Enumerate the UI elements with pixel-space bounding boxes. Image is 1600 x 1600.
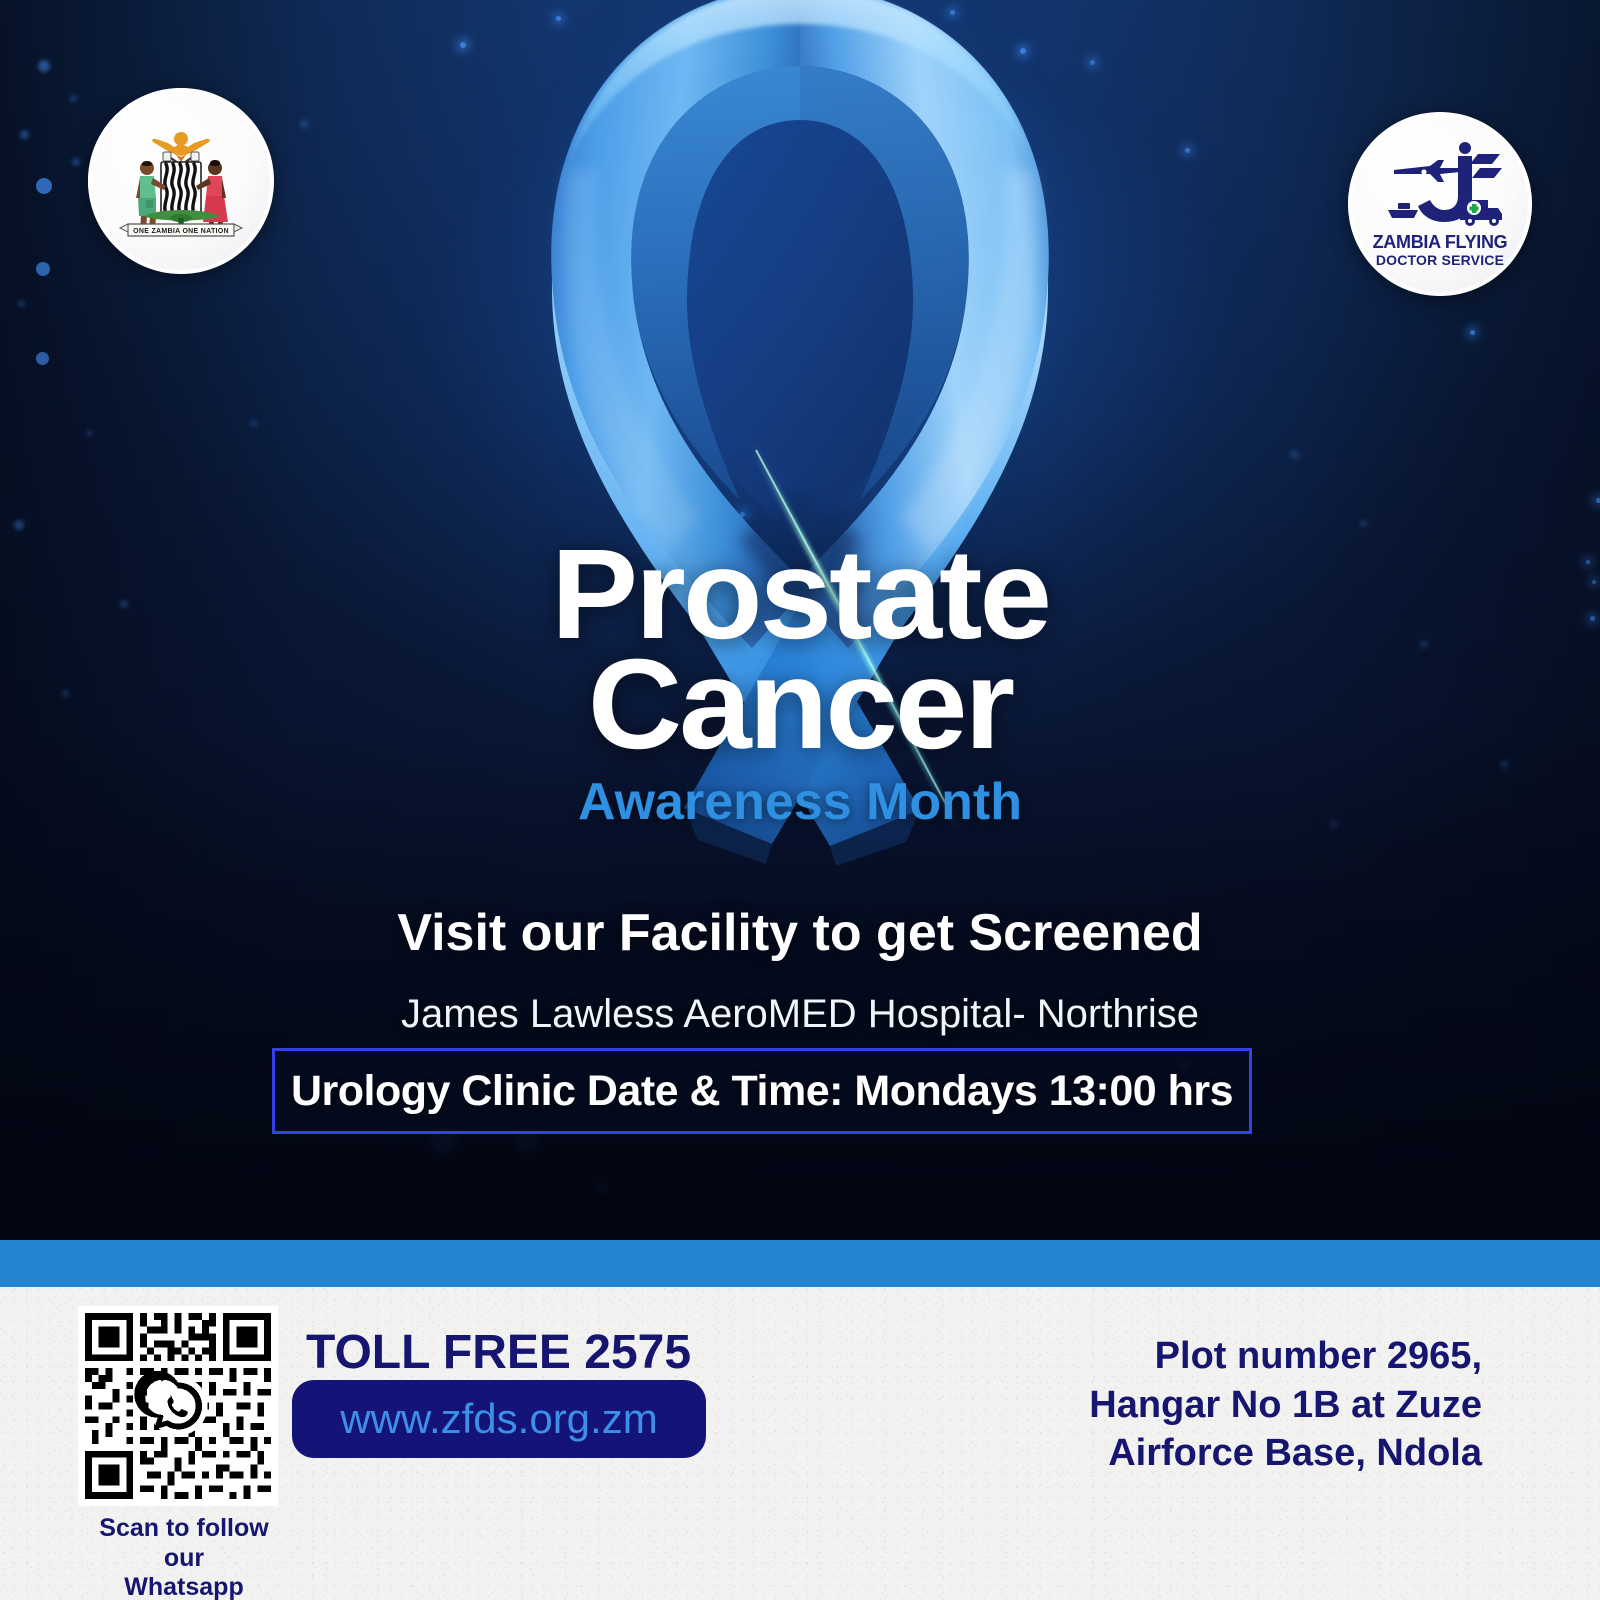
website-button[interactable]: www.zfds.org.zm	[292, 1380, 706, 1458]
address-line-3: Airforce Base, Ndola	[1002, 1429, 1482, 1478]
facility-name-text: James Lawless AeroMED Hospital- Northris…	[0, 992, 1600, 1037]
clinic-info-text: Urology Clinic Date & Time: Mondays 13:0…	[291, 1067, 1233, 1116]
qr-caption-line-2: Whatsapp Channel	[78, 1573, 290, 1600]
address-line-2: Hangar No 1B at Zuze	[1002, 1381, 1482, 1430]
qr-caption: Scan to follow our Whatsapp Channel	[78, 1514, 290, 1600]
address-block: Plot number 2965, Hangar No 1B at Zuze A…	[1002, 1332, 1482, 1478]
zambia-coat-of-arms-logo: ONE ZAMBIA ONE NATION	[88, 88, 274, 274]
toll-free-text: TOLL FREE 2575	[306, 1325, 691, 1380]
poster-root: Prostate Cancer Awareness Month Visit ou…	[0, 0, 1600, 1600]
title-line-2: Cancer	[0, 650, 1600, 760]
coat-of-arms-motto: ONE ZAMBIA ONE NATION	[133, 228, 229, 235]
zfds-logo-line-1: ZAMBIA FLYING	[1373, 232, 1508, 252]
page-title: Prostate Cancer	[0, 540, 1600, 760]
qr-code[interactable]	[78, 1306, 278, 1506]
divider-band	[0, 1240, 1600, 1287]
address-line-1: Plot number 2965,	[1002, 1332, 1482, 1381]
zfds-logo-line-2: DOCTOR SERVICE	[1376, 252, 1504, 268]
call-to-action-text: Visit our Facility to get Screened	[0, 903, 1600, 963]
qr-caption-line-1: Scan to follow our	[78, 1514, 290, 1573]
website-label: www.zfds.org.zm	[340, 1395, 657, 1443]
qr-block: Scan to follow our Whatsapp Channel	[78, 1306, 278, 1600]
zambia-flying-doctor-service-logo: ZAMBIA FLYING DOCTOR SERVICE	[1348, 112, 1532, 296]
clinic-info-box: Urology Clinic Date & Time: Mondays 13:0…	[272, 1048, 1252, 1134]
title-subtitle: Awareness Month	[0, 772, 1600, 832]
